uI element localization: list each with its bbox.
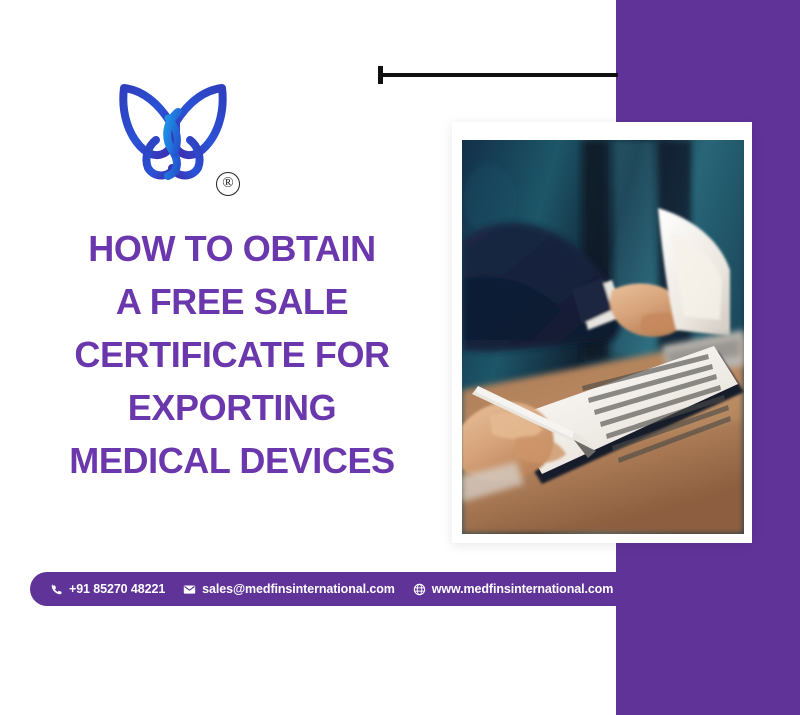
contact-phone[interactable]: +91 85270 48221 xyxy=(50,582,165,596)
photo-card xyxy=(452,122,752,543)
globe-icon xyxy=(413,583,426,596)
contact-bar: +91 85270 48221 sales@medfinsinternation… xyxy=(30,572,635,606)
registered-trademark-mark: ® xyxy=(216,172,240,196)
signing-document-photo xyxy=(462,140,744,534)
contact-phone-text: +91 85270 48221 xyxy=(69,582,165,596)
decorative-rule xyxy=(378,66,618,84)
headline-line-2: A FREE SALE xyxy=(34,275,430,328)
headline-line-4: EXPORTING xyxy=(34,381,430,434)
rule-line xyxy=(382,73,618,77)
headline-line-1: HOW TO OBTAIN xyxy=(34,222,430,275)
contact-email-text: sales@medfinsinternational.com xyxy=(202,582,395,596)
contact-website[interactable]: www.medfinsinternational.com xyxy=(413,582,613,596)
contact-website-text: www.medfinsinternational.com xyxy=(432,582,613,596)
contact-email[interactable]: sales@medfinsinternational.com xyxy=(183,582,395,596)
phone-icon xyxy=(50,583,63,596)
butterfly-logo-icon: ® xyxy=(112,78,234,190)
headline-line-5: MEDICAL DEVICES xyxy=(34,434,430,487)
purple-block-bottom xyxy=(616,543,800,715)
envelope-icon xyxy=(183,583,196,596)
page-title: HOW TO OBTAIN A FREE SALE CERTIFICATE FO… xyxy=(34,222,430,487)
headline-line-3: CERTIFICATE FOR xyxy=(34,328,430,381)
poster-canvas: ® HOW TO OBTAIN A FREE SALE CERTIFICATE … xyxy=(0,0,800,715)
